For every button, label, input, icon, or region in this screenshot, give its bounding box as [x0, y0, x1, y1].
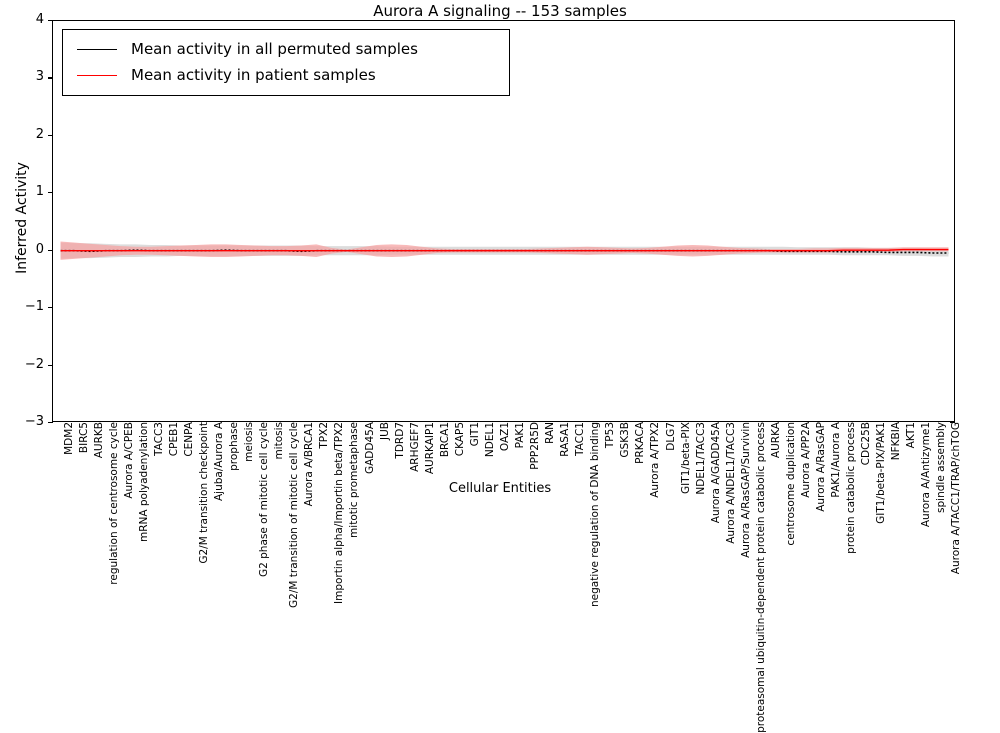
legend-swatch-patient [77, 75, 117, 76]
x-tick-label: PRKACA [635, 422, 645, 464]
chart-title: Aurora A signaling -- 153 samples [0, 2, 1000, 20]
x-tick-label: ARHGEF7 [410, 422, 420, 472]
x-tick-label: CKAP5 [455, 422, 465, 456]
y-tick-label: −2 [8, 357, 44, 372]
x-tick-label: Importin alpha/Importin beta/TPX2 [334, 422, 344, 604]
x-tick-label: AKT1 [906, 422, 916, 448]
x-tick-label: TP53 [605, 422, 615, 448]
x-tick-label: BRCA1 [440, 422, 450, 457]
x-tick-label: GIT1/beta-PIX/PAK1 [876, 422, 886, 524]
x-tick-label: CDC25B [861, 422, 871, 465]
x-tick-label: Aurora A/RasGAP [816, 422, 826, 512]
x-tick-label: OAZ1 [500, 422, 510, 451]
x-tick-label: G2/M transition of mitotic cell cycle [289, 422, 299, 608]
x-tick-label: regulation of centrosome cycle [109, 422, 119, 585]
legend-swatch-permuted [77, 49, 117, 50]
x-tick-label: NDEL1 [485, 422, 495, 457]
y-tick-label: 1 [8, 184, 44, 199]
x-tick-label: PAK1 [515, 422, 525, 448]
x-tick-label: DLG7 [666, 422, 676, 451]
x-tick-label: mitosis [274, 422, 284, 460]
legend-label-patient: Mean activity in patient samples [131, 66, 376, 84]
x-tick-labels: MDM2BIRC5AURKBregulation of centrosome c… [52, 422, 955, 478]
x-tick-label: Aurora A/Antizyme1 [921, 422, 931, 527]
x-tick-label: AURKAIP1 [425, 422, 435, 474]
legend-item-permuted: Mean activity in all permuted samples [73, 36, 499, 62]
y-tick-label: 4 [8, 12, 44, 27]
x-tick-label: prophase [229, 422, 239, 471]
x-tick-label: MDM2 [64, 422, 74, 455]
y-tick-label: −1 [8, 299, 44, 314]
y-tick-label: −3 [8, 414, 44, 429]
x-tick-label: TDRD7 [395, 422, 405, 459]
x-tick-label: spindle assembly [936, 422, 946, 513]
y-tick-label: 2 [8, 127, 44, 142]
x-tick-label: AURKB [94, 422, 104, 458]
x-tick-label: proteasomal ubiquitin-dependent protein … [756, 422, 766, 733]
x-tick-label: JUB [380, 422, 390, 440]
x-tick-label: RAN [545, 422, 555, 444]
x-tick-label: Aurora A/TACC1/TRAP/chTOG [951, 422, 961, 574]
y-tick-label: 3 [8, 69, 44, 84]
x-tick-label: mitotic prometaphase [349, 422, 359, 538]
x-tick-label: TACC1 [575, 422, 585, 456]
x-tick-label: RASA1 [560, 422, 570, 457]
x-tick-label: Aurora A/GADD45A [711, 422, 721, 523]
x-tick-label: CENPA [184, 422, 194, 457]
x-tick-label: NFKBIA [891, 422, 901, 460]
x-tick-label: TACC3 [154, 422, 164, 456]
legend: Mean activity in all permuted samples Me… [62, 29, 510, 96]
x-axis-label: Cellular Entities [0, 481, 1000, 496]
legend-item-patient: Mean activity in patient samples [73, 62, 499, 88]
x-tick-label: BIRC5 [79, 422, 89, 453]
legend-label-permuted: Mean activity in all permuted samples [131, 40, 418, 58]
x-tick-label: meiosis [244, 422, 254, 462]
x-tick-label: GSK3B [620, 422, 630, 458]
x-tick-label: CPEB1 [169, 422, 179, 456]
y-tick-label: 0 [8, 242, 44, 257]
x-tick-label: TPX2 [319, 422, 329, 449]
x-tick-label: PPP2R5D [530, 422, 540, 470]
x-tick-label: AURKA [771, 422, 781, 458]
x-tick-label: GIT1 [470, 422, 480, 446]
x-tick-label: GADD45A [365, 422, 375, 474]
x-tick-label: negative regulation of DNA binding [590, 422, 600, 607]
chart-root: Aurora A signaling -- 153 samples Inferr… [0, 0, 1000, 500]
